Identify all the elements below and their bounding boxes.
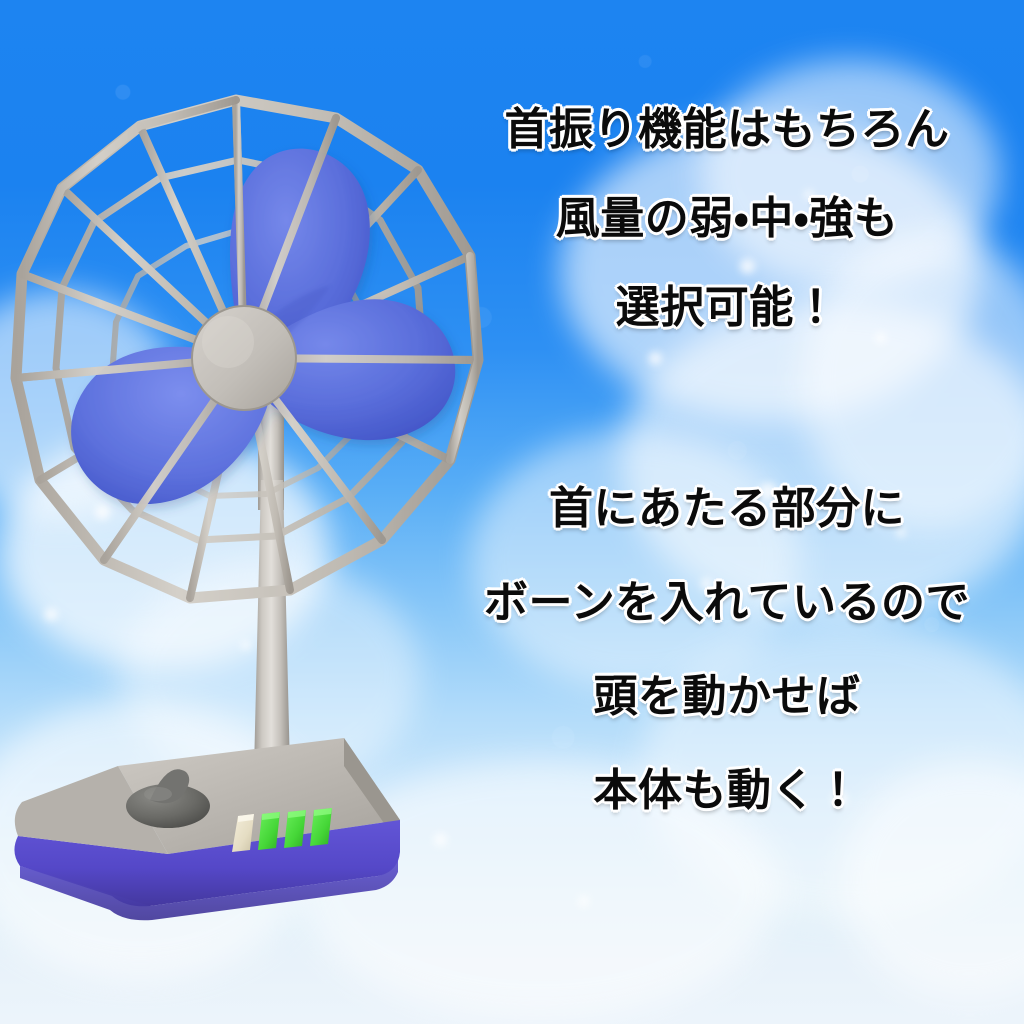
text-line: 頭を動かせば	[430, 675, 1024, 719]
text-line: 風量の弱・中・強も	[430, 197, 1024, 241]
text-line: 選択可能！	[430, 286, 1024, 330]
text-block-oscillation: 首振り機能はもちろん 風量の弱・中・強も 選択可能！	[430, 108, 1024, 375]
fan-hub	[192, 306, 296, 410]
text-line: 本体も動く！	[430, 769, 1024, 813]
text-line: ボーンを入れているので	[430, 581, 1024, 625]
text-line: 首にあたる部分に	[430, 487, 1024, 531]
text-block-bone-rig: 首にあたる部分に ボーンを入れているので 頭を動かせば 本体も動く！	[430, 487, 1024, 863]
scene-canvas: 首振り機能はもちろん 風量の弱・中・強も 選択可能！ 首にあたる部分に ボーンを…	[0, 0, 1024, 1024]
fan-base	[14, 738, 400, 920]
fan-pole	[254, 480, 290, 770]
text-line: 首振り機能はもちろん	[430, 108, 1024, 152]
